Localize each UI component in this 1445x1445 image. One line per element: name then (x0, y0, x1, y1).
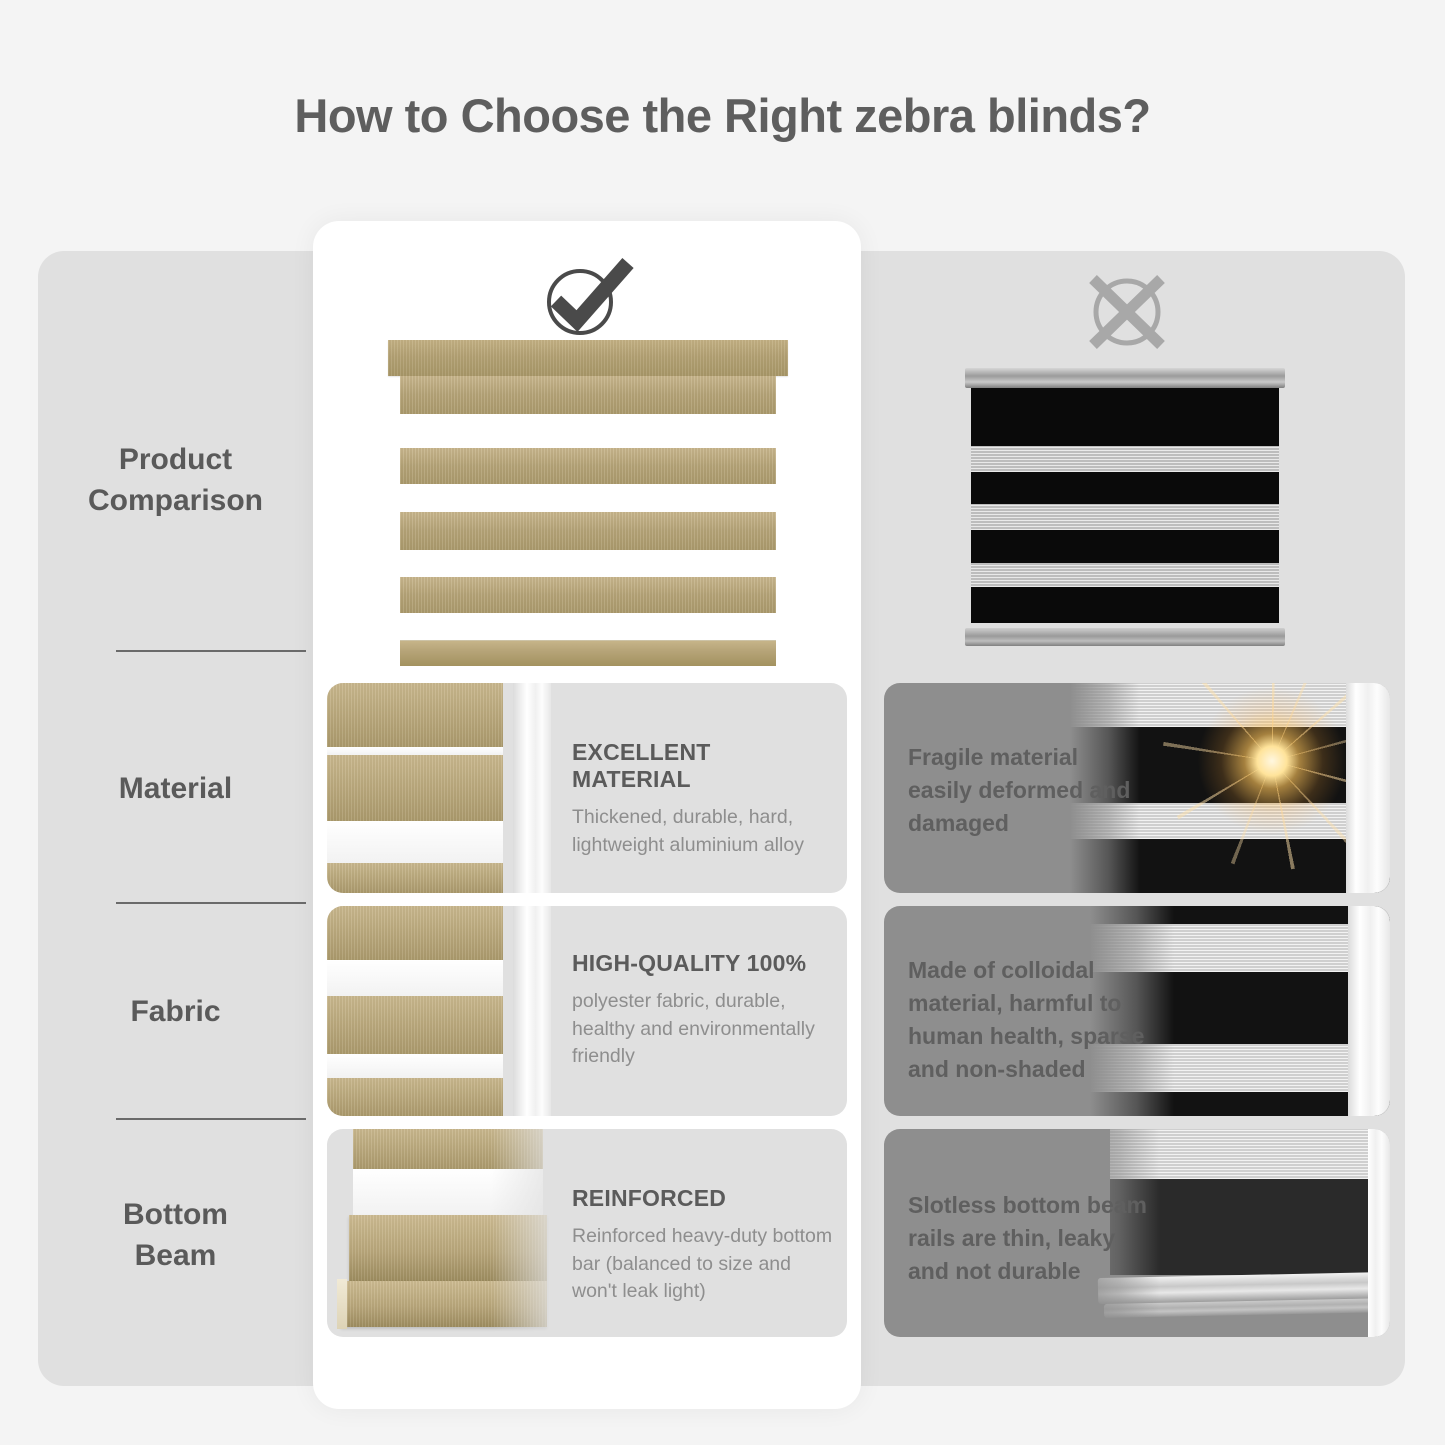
bad-card-text-material: Fragile material easily deformed and dam… (908, 741, 1138, 840)
sidebar-label-line-1: Bottom (123, 1198, 228, 1231)
black-blind-sheer-stripe (971, 504, 1279, 530)
good-card-title: HIGH-QUALITY 100% (572, 950, 840, 977)
sidebar-label-material: Material (119, 769, 232, 810)
sidebar-item-fabric: Fabric (38, 982, 313, 1042)
window-frame-inner (513, 906, 527, 1116)
window-frame-outer (527, 906, 551, 1116)
tan-blind-slat (400, 577, 776, 613)
good-card-body: polyester fabric, durable, healthy and e… (572, 988, 840, 1071)
photo-slat (327, 863, 503, 893)
photo-slat (327, 747, 503, 755)
sidebar-divider-3 (116, 1118, 306, 1120)
sidebar-label-fabric: Fabric (130, 992, 220, 1033)
window-frame-outer (1356, 683, 1390, 893)
window-frame-outer (527, 683, 551, 893)
good-card-material: EXCELLENT MATERIAL Thickened, durable, h… (327, 683, 847, 893)
photo-slat (327, 960, 503, 996)
infographic-root: How to Choose the Right zebra blinds? Pr… (0, 0, 1445, 1445)
black-blind-sheer-stripe (971, 563, 1279, 587)
product-image-black-zebra-blind (965, 368, 1285, 646)
photo-edge-fade (491, 1129, 567, 1337)
photo-tan-blind-fabric (327, 906, 551, 1116)
good-card-bottom-beam: REINFORCED Reinforced heavy-duty bottom … (327, 1129, 847, 1337)
cross-circle-icon (1083, 272, 1171, 352)
check-circle-icon (540, 255, 636, 341)
good-card-text-material: EXCELLENT MATERIAL Thickened, durable, h… (572, 739, 834, 859)
bad-card-text-fabric: Made of colloidal material, harmful to h… (908, 954, 1156, 1086)
photo-tan-blind-window (327, 683, 551, 893)
sidebar-label-line-1: Product (119, 443, 232, 476)
window-frame-inner (513, 683, 527, 893)
bad-card-text: Slotless bottom beam rails are thin, lea… (908, 1189, 1156, 1288)
category-sidebar: Product Comparison Material Fabric Botto… (38, 251, 313, 1386)
sidebar-label-product-comparison: Product Comparison (88, 440, 263, 522)
photo-tan-bottom-bar (327, 1129, 567, 1337)
photo-slat (327, 906, 503, 960)
sidebar-label-line-2: Beam (135, 1239, 217, 1272)
bad-card-fabric: Made of colloidal material, harmful to h… (884, 906, 1390, 1116)
bad-card-text: Made of colloidal material, harmful to h… (908, 954, 1156, 1086)
bad-card-text-bottom-beam: Slotless bottom beam rails are thin, lea… (908, 1189, 1156, 1288)
window-frame-outer (1360, 906, 1390, 1116)
photo-slat (327, 755, 503, 821)
black-blind-fabric (971, 388, 1279, 623)
tan-blind-slat (400, 512, 776, 550)
sun-glare (1197, 686, 1347, 836)
good-card-fabric: HIGH-QUALITY 100% polyester fabric, dura… (327, 906, 847, 1116)
sidebar-label-bottom-beam: Bottom Beam (123, 1195, 228, 1277)
photo-slat (327, 1078, 503, 1116)
good-card-text-fabric: HIGH-QUALITY 100% polyester fabric, dura… (572, 950, 840, 1071)
tan-blind-bottom-bar (400, 640, 776, 666)
page-title: How to Choose the Right zebra blinds? (0, 88, 1445, 143)
photo-slat (327, 821, 503, 863)
photo-slat (327, 683, 503, 747)
sidebar-label-line-2: Comparison (88, 484, 263, 517)
sidebar-divider-2 (116, 902, 306, 904)
good-card-title: REINFORCED (572, 1185, 840, 1212)
good-card-body: Thickened, durable, hard, lightweight al… (572, 804, 834, 859)
black-blind-sheer-stripe (971, 446, 1279, 472)
bad-card-bottom-beam: Slotless bottom beam rails are thin, lea… (884, 1129, 1390, 1337)
black-blind-bottom-rail (965, 628, 1285, 646)
tan-blind-slat (400, 448, 776, 484)
product-image-tan-zebra-blind (388, 340, 788, 665)
sidebar-item-material: Material (38, 759, 313, 819)
good-card-body: Reinforced heavy-duty bottom bar (balanc… (572, 1223, 840, 1306)
tan-blind-headrail (388, 340, 788, 376)
window-frame-inner (1346, 683, 1356, 893)
window-frame-outer (1368, 1129, 1390, 1337)
bottom-bar-end-cap (337, 1279, 347, 1329)
sidebar-item-bottom-beam: Bottom Beam (38, 1181, 313, 1291)
good-card-title: EXCELLENT MATERIAL (572, 739, 834, 793)
bad-card-material: Fragile material easily deformed and dam… (884, 683, 1390, 893)
black-blind-headrail (965, 368, 1285, 388)
photo-slat (327, 996, 503, 1054)
sidebar-item-product-comparison: Product Comparison (38, 426, 313, 536)
tan-blind-slat (400, 376, 776, 414)
good-card-text-bottom-beam: REINFORCED Reinforced heavy-duty bottom … (572, 1185, 840, 1306)
photo-slat (327, 1054, 503, 1078)
sidebar-divider-1 (116, 650, 306, 652)
bad-card-text: Fragile material easily deformed and dam… (908, 741, 1138, 840)
window-frame-inner (1348, 906, 1360, 1116)
